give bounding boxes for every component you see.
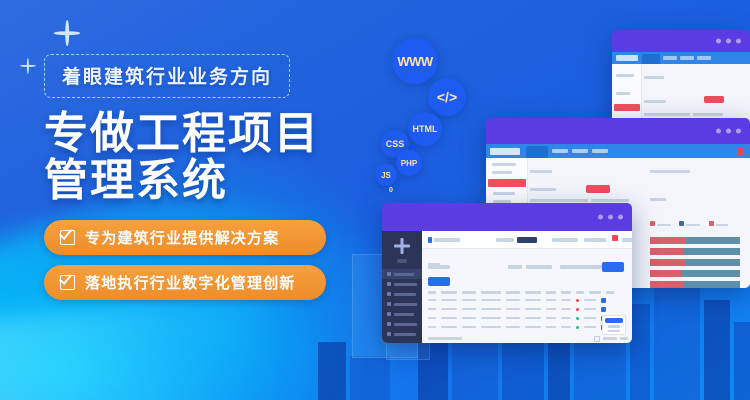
feature-pill-1[interactable]: 专为建筑行业提供解决方案 — [44, 220, 326, 255]
delete-button-middle[interactable] — [586, 185, 610, 193]
tech-bubble-php: PHP — [396, 150, 422, 176]
status-dot-green — [576, 317, 579, 320]
notification-badge[interactable] — [737, 148, 744, 155]
tech-bubble-label: PHP — [401, 159, 417, 168]
tech-bubble-label: JS — [381, 171, 391, 180]
table-row[interactable] — [428, 325, 628, 330]
tech-bubble-label: 0 — [389, 187, 393, 194]
tech-bubble-label: </> — [437, 89, 457, 105]
tab-middle — [572, 149, 588, 153]
tab-middle — [592, 149, 608, 153]
notification-badge-front[interactable] — [612, 235, 618, 241]
sidebar-item-front[interactable] — [382, 319, 422, 329]
sidebar-item-front[interactable] — [382, 309, 422, 319]
window-controls-back[interactable] — [716, 39, 741, 44]
sidebar-item-front[interactable] — [382, 299, 422, 309]
chart-panel-middle — [650, 160, 746, 284]
chart-legend-middle — [650, 213, 746, 231]
headline-line-2: 管理系统 — [44, 158, 374, 205]
promotional-banner: WWW </> HTML CSS PHP JS 0 着眼建筑行业业务方向 专做工… — [0, 0, 750, 400]
sidebar-item-front[interactable] — [382, 279, 422, 289]
checkbox-checked-icon — [60, 275, 75, 290]
app-header-middle — [486, 144, 750, 158]
tech-bubble-label: WWW — [397, 54, 432, 69]
eyebrow-tagline: 着眼建筑行业业务方向 — [44, 54, 290, 98]
tech-bubble-label: HTML — [413, 124, 438, 134]
dashboard-window-front[interactable] — [382, 203, 632, 343]
tech-bubble-label: CSS — [386, 139, 405, 149]
filter-bar-front[interactable] — [428, 261, 626, 273]
table-row[interactable] — [428, 298, 628, 303]
app-topbar-front — [422, 231, 632, 249]
query-button-front[interactable] — [602, 262, 624, 272]
logo-label — [397, 259, 407, 263]
banner-copy: 着眼建筑行业业务方向 专做工程项目 管理系统 专为建筑行业提供解决方案 落地执行… — [44, 54, 374, 310]
tech-bubble-code: </> — [428, 78, 466, 116]
sidebar-item-active-middle — [488, 179, 526, 187]
bar-chart-middle — [650, 237, 746, 288]
tech-bubble-www: WWW — [392, 38, 438, 84]
status-dot-red — [576, 299, 579, 302]
headline-line-1: 专做工程项目 — [44, 111, 374, 158]
table-row[interactable] — [428, 316, 628, 321]
feature-pill-2[interactable]: 落地执行行业数字化管理创新 — [44, 265, 326, 300]
browser-title-bar-middle — [486, 118, 750, 144]
status-dot-red — [576, 308, 579, 311]
row-action-icon[interactable] — [601, 307, 606, 312]
sparkle-small-icon — [20, 58, 36, 74]
sidebar-item-front[interactable] — [382, 329, 422, 339]
pagination-front[interactable] — [428, 336, 628, 342]
sidebar-item-front[interactable] — [382, 269, 422, 279]
status-dot-green — [576, 326, 579, 329]
app-header-back — [612, 52, 750, 64]
sidebar-item-front[interactable] — [382, 289, 422, 299]
row-action-icon[interactable] — [601, 298, 606, 303]
tab-middle — [552, 149, 568, 153]
page-title: 专做工程项目 管理系统 — [44, 111, 374, 204]
app-logo-icon — [394, 238, 410, 254]
browser-title-bar-front — [382, 203, 632, 231]
table-front — [428, 291, 628, 339]
sparkle-large-icon — [54, 20, 80, 46]
browser-title-bar-back — [612, 30, 750, 52]
add-button-front[interactable] — [428, 277, 450, 286]
feature-pill-list: 专为建筑行业提供解决方案 落地执行行业数字化管理创新 — [44, 220, 374, 300]
tech-bubble-zero: 0 — [383, 182, 399, 198]
window-controls-middle[interactable] — [716, 129, 741, 134]
window-controls-front[interactable] — [598, 215, 623, 220]
table-row[interactable] — [428, 307, 628, 312]
sidebar-front[interactable] — [382, 231, 422, 343]
feature-pill-label: 专为建筑行业提供解决方案 — [85, 227, 279, 248]
context-menu-front[interactable] — [602, 315, 626, 335]
feature-pill-label: 落地执行行业数字化管理创新 — [85, 272, 296, 293]
checkbox-checked-icon — [60, 230, 75, 245]
table-header-row — [428, 291, 628, 294]
tab-active-middle — [526, 146, 548, 158]
tech-bubble-html: HTML — [408, 112, 442, 146]
